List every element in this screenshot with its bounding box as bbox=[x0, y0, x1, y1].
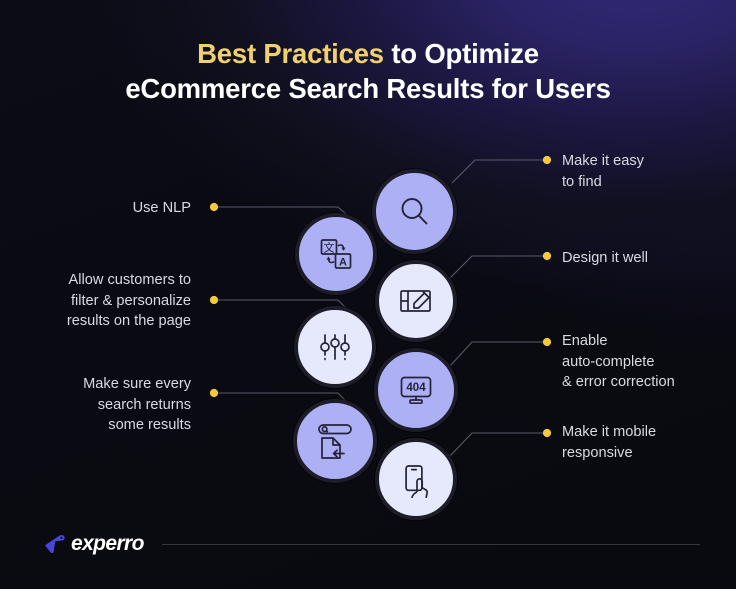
label-design-it-well: Design it well bbox=[562, 248, 732, 269]
node-mobile[interactable] bbox=[375, 438, 457, 520]
brand-name: experro bbox=[71, 532, 144, 556]
sliders-icon bbox=[314, 326, 356, 368]
title-line-2: eCommerce Search Results for Users bbox=[0, 71, 736, 106]
monitor-404-icon: 404 bbox=[395, 369, 437, 411]
node-no-results[interactable] bbox=[293, 399, 377, 483]
dot-some-results bbox=[210, 389, 218, 397]
svg-text:文: 文 bbox=[324, 240, 335, 254]
title-line-1: Best Practices to Optimize bbox=[0, 36, 736, 71]
title-accent-text: Best Practices bbox=[197, 38, 384, 69]
svg-text:A: A bbox=[339, 256, 347, 268]
infographic-poster: Best Practices to Optimize eCommerce Sea… bbox=[0, 0, 736, 589]
node-search[interactable] bbox=[372, 169, 457, 254]
search-document-icon bbox=[313, 419, 357, 463]
phone-in-hand-icon bbox=[395, 458, 437, 500]
footer-divider bbox=[162, 544, 700, 545]
dot-auto-complete bbox=[543, 338, 551, 346]
dot-use-nlp bbox=[210, 203, 218, 211]
brand-logo[interactable]: experro bbox=[42, 532, 144, 556]
wire-mobile-responsive bbox=[450, 433, 546, 456]
label-mobile-responsive: Make it mobile responsive bbox=[562, 422, 732, 463]
footer: experro bbox=[42, 529, 700, 559]
page-title: Best Practices to Optimize eCommerce Sea… bbox=[0, 36, 736, 106]
design-tablet-icon bbox=[395, 280, 437, 322]
dot-mobile-responsive bbox=[543, 429, 551, 437]
svg-text:404: 404 bbox=[406, 382, 426, 394]
wire-design-it-well bbox=[450, 256, 546, 278]
label-easy-to-find: Make it easy to find bbox=[562, 151, 732, 192]
magnifier-icon bbox=[395, 192, 435, 232]
node-error-404[interactable]: 404 bbox=[374, 348, 458, 432]
label-use-nlp: Use NLP bbox=[11, 198, 191, 219]
dot-design-it-well bbox=[543, 252, 551, 260]
dot-easy-to-find bbox=[543, 156, 551, 164]
label-filter-personalize: Allow customers to filter & personalize … bbox=[11, 270, 191, 332]
node-filters[interactable] bbox=[294, 306, 376, 388]
wire-auto-complete bbox=[450, 342, 546, 366]
dot-filter-personalize bbox=[210, 296, 218, 304]
wire-easy-to-find bbox=[452, 160, 546, 183]
title-line-1-rest: to Optimize bbox=[384, 38, 539, 69]
label-auto-complete: Enable auto-complete & error correction bbox=[562, 331, 732, 393]
experro-bird-mark bbox=[42, 532, 68, 556]
node-translate[interactable]: 文 A bbox=[295, 213, 377, 295]
translate-icon: 文 A bbox=[315, 233, 357, 275]
node-design[interactable] bbox=[375, 260, 457, 342]
label-some-results: Make sure every search returns some resu… bbox=[11, 374, 191, 436]
